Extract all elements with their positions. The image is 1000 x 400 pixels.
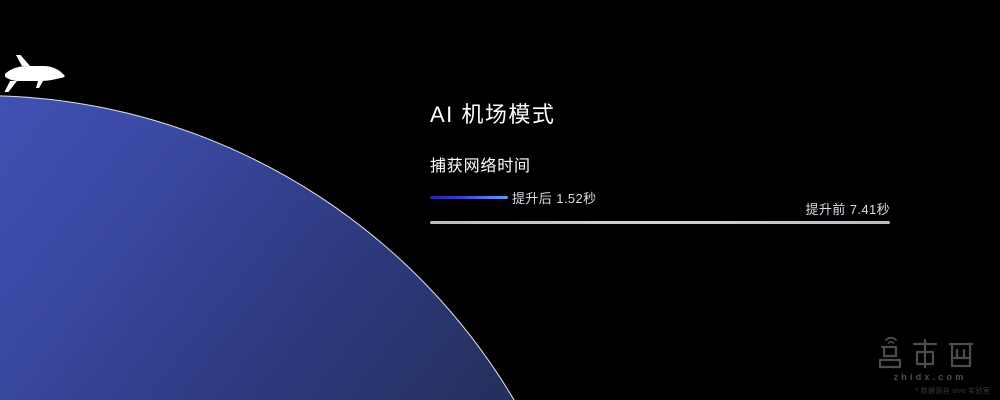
zhidx-logo-icon xyxy=(874,334,986,370)
presentation-slide: AI 机场模式 捕获网络时间 提升后 1.52秒 提升前 7.41秒 zh xyxy=(0,0,1000,400)
globe-arc xyxy=(0,96,600,400)
page-title: AI 机场模式 xyxy=(430,97,555,129)
watermark-domain: zhidx.com xyxy=(874,372,986,382)
watermark: zhidx.com xyxy=(874,334,986,382)
bar-label-improved: 提升后 1.52秒 xyxy=(512,188,597,207)
footnote: * 数据源自 vivo 实验室 xyxy=(915,386,990,396)
airplane-icon xyxy=(2,52,68,98)
chart-title: 捕获网络时间 xyxy=(430,152,531,176)
bar-improved xyxy=(430,196,508,199)
bar-before xyxy=(430,221,890,224)
bar-label-before: 提升前 7.41秒 xyxy=(690,199,890,218)
